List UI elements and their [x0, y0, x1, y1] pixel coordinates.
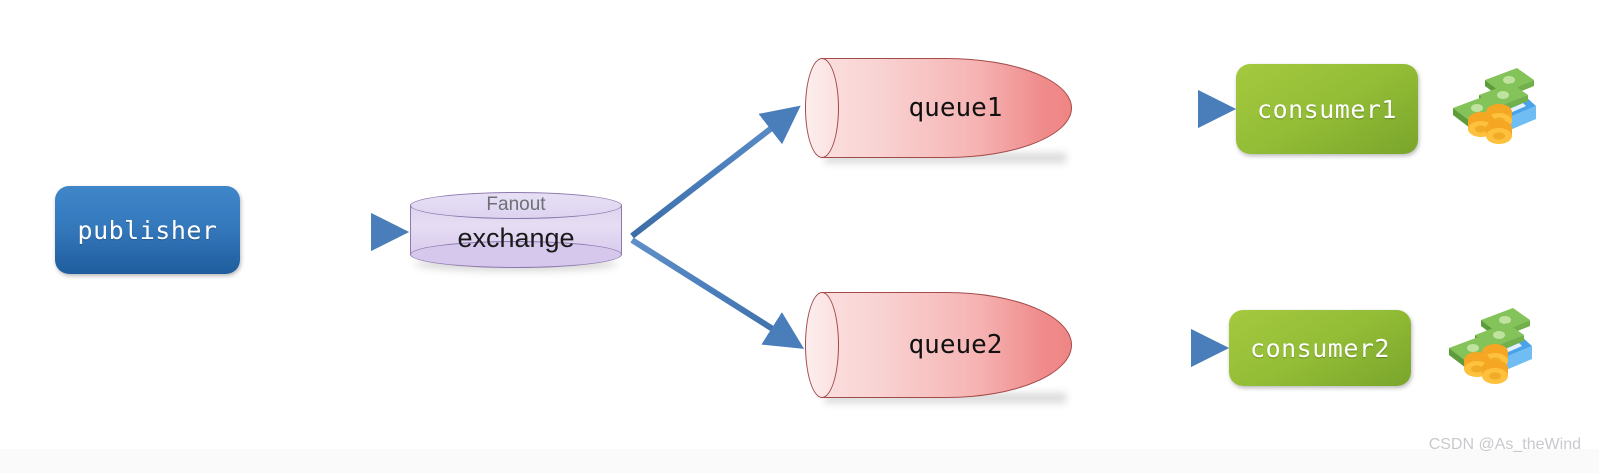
- node-queue1[interactable]: queue1: [805, 58, 1072, 158]
- queue1-label: queue1: [839, 58, 1072, 158]
- queue2-label: queue2: [839, 292, 1072, 398]
- node-publisher[interactable]: publisher: [55, 186, 240, 274]
- money-icon: [1437, 62, 1537, 146]
- publisher-label: publisher: [78, 216, 218, 245]
- edge-exchange-queue2: [632, 240, 798, 345]
- watermark: CSDN @As_theWind: [1429, 436, 1581, 454]
- node-consumer2[interactable]: consumer2: [1229, 310, 1411, 386]
- consumer2-label: consumer2: [1250, 334, 1390, 363]
- node-queue2[interactable]: queue2: [805, 292, 1072, 398]
- node-exchange[interactable]: Fanout exchange: [410, 192, 622, 268]
- queue1-left-cap: [805, 58, 839, 158]
- exchange-type-label: Fanout: [410, 194, 622, 216]
- node-consumer1[interactable]: consumer1: [1236, 64, 1418, 154]
- exchange-label: exchange: [410, 223, 622, 254]
- bottom-band: [0, 449, 1599, 473]
- edge-exchange-queue1: [632, 110, 795, 236]
- diagram-canvas: publisher Fanout exchange queue1 queue2 …: [0, 0, 1599, 473]
- money-icon: [1433, 302, 1533, 386]
- queue2-left-cap: [805, 292, 839, 398]
- consumer1-label: consumer1: [1257, 95, 1397, 124]
